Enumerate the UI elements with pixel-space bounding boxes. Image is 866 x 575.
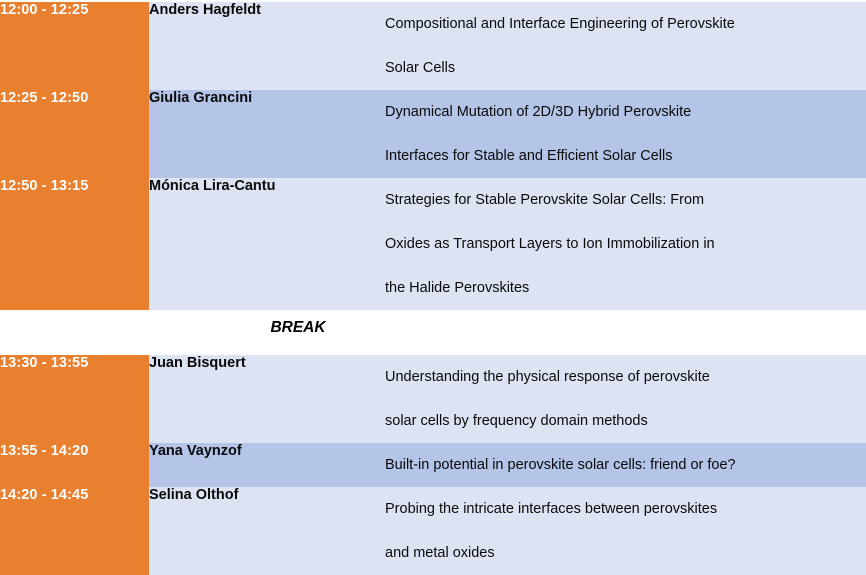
session-speaker: Juan Bisquert bbox=[149, 355, 385, 443]
session-title: Understanding the physical response of p… bbox=[385, 355, 866, 443]
session-time: 12:50 - 13:15 bbox=[0, 178, 149, 310]
conference-schedule: 12:00 - 12:25 Anders Hagfeldt Compositio… bbox=[0, 0, 866, 571]
session-title: Built-in potential in perovskite solar c… bbox=[385, 443, 866, 487]
session-table-morning-body: 12:00 - 12:25 Anders Hagfeldt Compositio… bbox=[0, 2, 866, 310]
session-title-line: Understanding the physical response of p… bbox=[385, 355, 866, 399]
session-title-line: Oxides as Transport Layers to Ion Immobi… bbox=[385, 222, 866, 266]
table-row[interactable]: 12:50 - 13:15 Mónica Lira-Cantu Strategi… bbox=[0, 178, 866, 310]
session-speaker: Selina Olthof bbox=[149, 487, 385, 575]
session-time: 13:55 - 14:20 bbox=[0, 443, 149, 487]
session-time: 12:25 - 12:50 bbox=[0, 90, 149, 178]
break-band: BREAK bbox=[0, 310, 866, 355]
session-title-line: Compositional and Interface Engineering … bbox=[385, 2, 866, 46]
session-speaker: Giulia Grancini bbox=[149, 90, 385, 178]
session-title-line: solar cells by frequency domain methods bbox=[385, 399, 866, 443]
session-title-line: Probing the intricate interfaces between… bbox=[385, 487, 866, 531]
session-table-afternoon-body: 13:30 - 13:55 Juan Bisquert Understandin… bbox=[0, 355, 866, 575]
session-title: Probing the intricate interfaces between… bbox=[385, 487, 866, 575]
session-title-line: the Halide Perovskites bbox=[385, 266, 866, 310]
table-row[interactable]: 12:00 - 12:25 Anders Hagfeldt Compositio… bbox=[0, 2, 866, 90]
session-title-line: Solar Cells bbox=[385, 46, 866, 90]
table-row[interactable]: 12:25 - 12:50 Giulia Grancini Dynamical … bbox=[0, 90, 866, 178]
session-title: Compositional and Interface Engineering … bbox=[385, 2, 866, 90]
table-row[interactable]: 13:55 - 14:20 Yana Vaynzof Built-in pote… bbox=[0, 443, 866, 487]
session-table-morning: 12:00 - 12:25 Anders Hagfeldt Compositio… bbox=[0, 2, 866, 310]
session-title: Strategies for Stable Perovskite Solar C… bbox=[385, 178, 866, 310]
session-title-line: Dynamical Mutation of 2D/3D Hybrid Perov… bbox=[385, 90, 866, 134]
session-title-line: Built-in potential in perovskite solar c… bbox=[385, 443, 866, 487]
session-title-line: and metal oxides bbox=[385, 531, 866, 575]
session-time: 12:00 - 12:25 bbox=[0, 2, 149, 90]
session-table-afternoon: 13:30 - 13:55 Juan Bisquert Understandin… bbox=[0, 355, 866, 575]
session-title-line: Interfaces for Stable and Efficient Sola… bbox=[385, 134, 866, 178]
break-label: BREAK bbox=[0, 319, 866, 337]
session-speaker: Mónica Lira-Cantu bbox=[149, 178, 385, 310]
table-row[interactable]: 14:20 - 14:45 Selina Olthof Probing the … bbox=[0, 487, 866, 575]
table-row[interactable]: 13:30 - 13:55 Juan Bisquert Understandin… bbox=[0, 355, 866, 443]
session-speaker: Yana Vaynzof bbox=[149, 443, 385, 487]
session-speaker: Anders Hagfeldt bbox=[149, 2, 385, 90]
session-time: 13:30 - 13:55 bbox=[0, 355, 149, 443]
session-title: Dynamical Mutation of 2D/3D Hybrid Perov… bbox=[385, 90, 866, 178]
session-time: 14:20 - 14:45 bbox=[0, 487, 149, 575]
session-title-line: Strategies for Stable Perovskite Solar C… bbox=[385, 178, 866, 222]
